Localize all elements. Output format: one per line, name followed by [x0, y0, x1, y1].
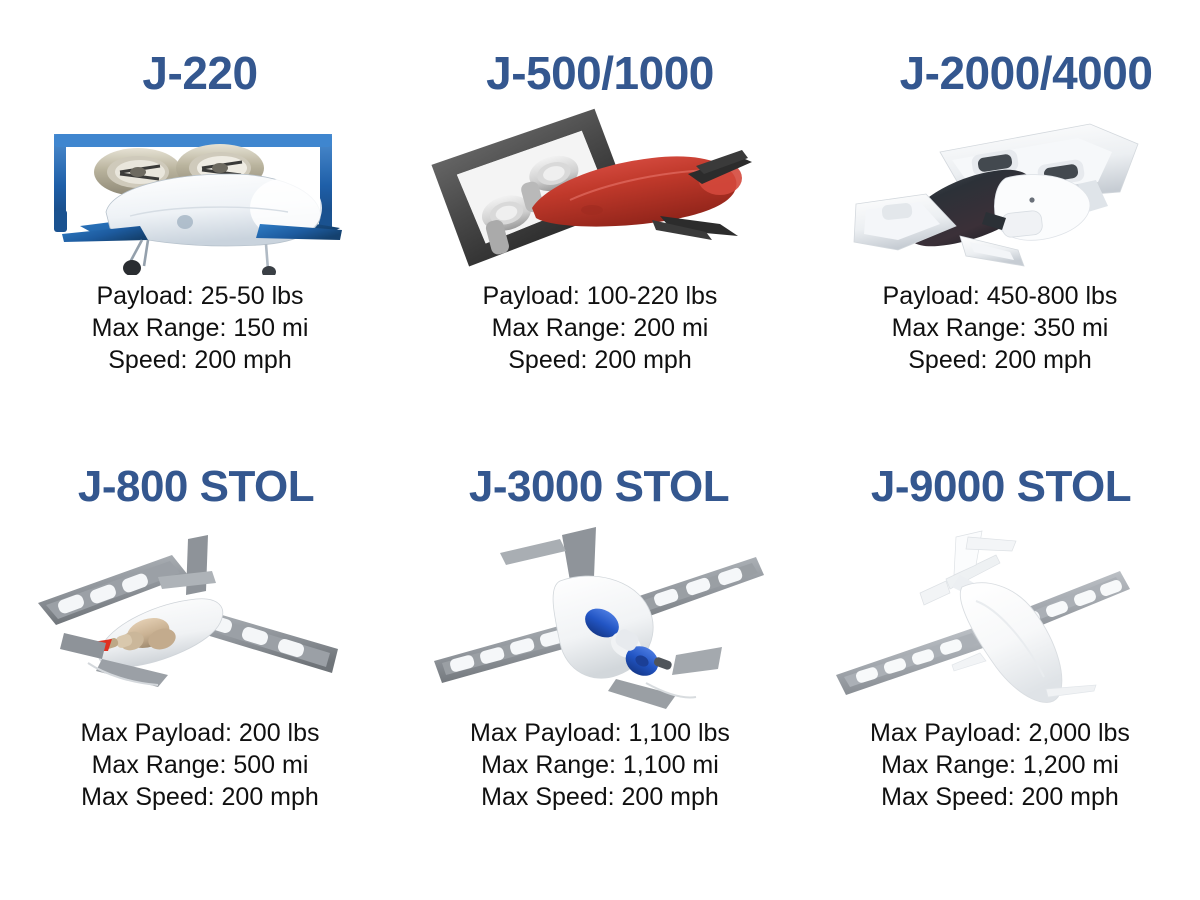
j220-evtol-aircraft-render [20, 100, 380, 275]
j500-1000-evtol-aircraft-render [420, 100, 780, 275]
spec-max-payload: Max Payload: 200 lbs [80, 718, 319, 750]
product-card-j-220[interactable]: J-220 [0, 0, 400, 440]
product-specs-j-500-1000: Payload: 100-220 lbs Max Range: 200 mi S… [483, 281, 718, 376]
product-specs-j-220: Payload: 25-50 lbs Max Range: 150 mi Spe… [92, 281, 309, 376]
j800-stol-aircraft-render [20, 519, 380, 714]
spec-max-range: Max Range: 1,200 mi [870, 750, 1130, 782]
product-card-j-2000-4000[interactable]: J-2000/4000 [800, 0, 1200, 440]
j9000-stol-aircraft-render [820, 519, 1180, 714]
product-specs-j-2000-4000: Payload: 450-800 lbs Max Range: 350 mi S… [883, 281, 1118, 376]
spec-max-speed: Max Speed: 200 mph [80, 782, 319, 814]
product-title-j-220: J-220 [142, 50, 257, 96]
product-specs-j-9000-stol: Max Payload: 2,000 lbs Max Range: 1,200 … [870, 718, 1130, 813]
spec-max-payload: Max Payload: 2,000 lbs [870, 718, 1130, 750]
j800-aircraft-svg [20, 519, 380, 714]
j3000-aircraft-svg [420, 519, 780, 714]
product-title-j-2000-4000: J-2000/4000 [900, 50, 1153, 96]
j3000-stol-aircraft-render [420, 519, 780, 714]
product-card-j-3000-stol[interactable]: J-3000 STOL [400, 440, 800, 840]
spec-max-range: Max Range: 200 mi [483, 313, 718, 345]
product-row-bottom: J-800 STOL [0, 440, 1200, 840]
product-row-top: J-220 [0, 0, 1200, 440]
product-title-j-3000-stol: J-3000 STOL [469, 465, 729, 509]
spec-max-speed: Max Speed: 200 mph [870, 782, 1130, 814]
spec-payload: Payload: 450-800 lbs [883, 281, 1118, 313]
product-title-j-9000-stol: J-9000 STOL [871, 465, 1131, 509]
spec-max-range: Max Range: 1,100 mi [470, 750, 730, 782]
product-card-j-9000-stol[interactable]: J-9000 STOL [800, 440, 1200, 840]
product-comparison-grid: J-220 [0, 0, 1200, 900]
product-specs-j-3000-stol: Max Payload: 1,100 lbs Max Range: 1,100 … [470, 718, 730, 813]
product-card-j-500-1000[interactable]: J-500/1000 [400, 0, 800, 440]
product-specs-j-800-stol: Max Payload: 200 lbs Max Range: 500 mi M… [80, 718, 319, 813]
spec-payload: Payload: 25-50 lbs [92, 281, 309, 313]
product-card-j-800-stol[interactable]: J-800 STOL [0, 440, 400, 840]
j2000-4000-evtol-aircraft-render [820, 100, 1180, 275]
product-title-j-800-stol: J-800 STOL [78, 465, 314, 509]
spec-max-payload: Max Payload: 1,100 lbs [470, 718, 730, 750]
spec-speed: Speed: 200 mph [483, 345, 718, 377]
spec-payload: Payload: 100-220 lbs [483, 281, 718, 313]
spec-max-range: Max Range: 350 mi [883, 313, 1118, 345]
spec-max-range: Max Range: 150 mi [92, 313, 309, 345]
j2000-aircraft-svg [820, 100, 1180, 275]
spec-speed: Speed: 200 mph [92, 345, 309, 377]
spec-max-speed: Max Speed: 200 mph [470, 782, 730, 814]
product-title-j-500-1000: J-500/1000 [486, 50, 714, 96]
spec-speed: Speed: 200 mph [883, 345, 1118, 377]
j220-aircraft-svg [20, 100, 380, 275]
j500-aircraft-svg [420, 100, 780, 275]
spec-max-range: Max Range: 500 mi [80, 750, 319, 782]
j9000-aircraft-svg [820, 519, 1180, 714]
